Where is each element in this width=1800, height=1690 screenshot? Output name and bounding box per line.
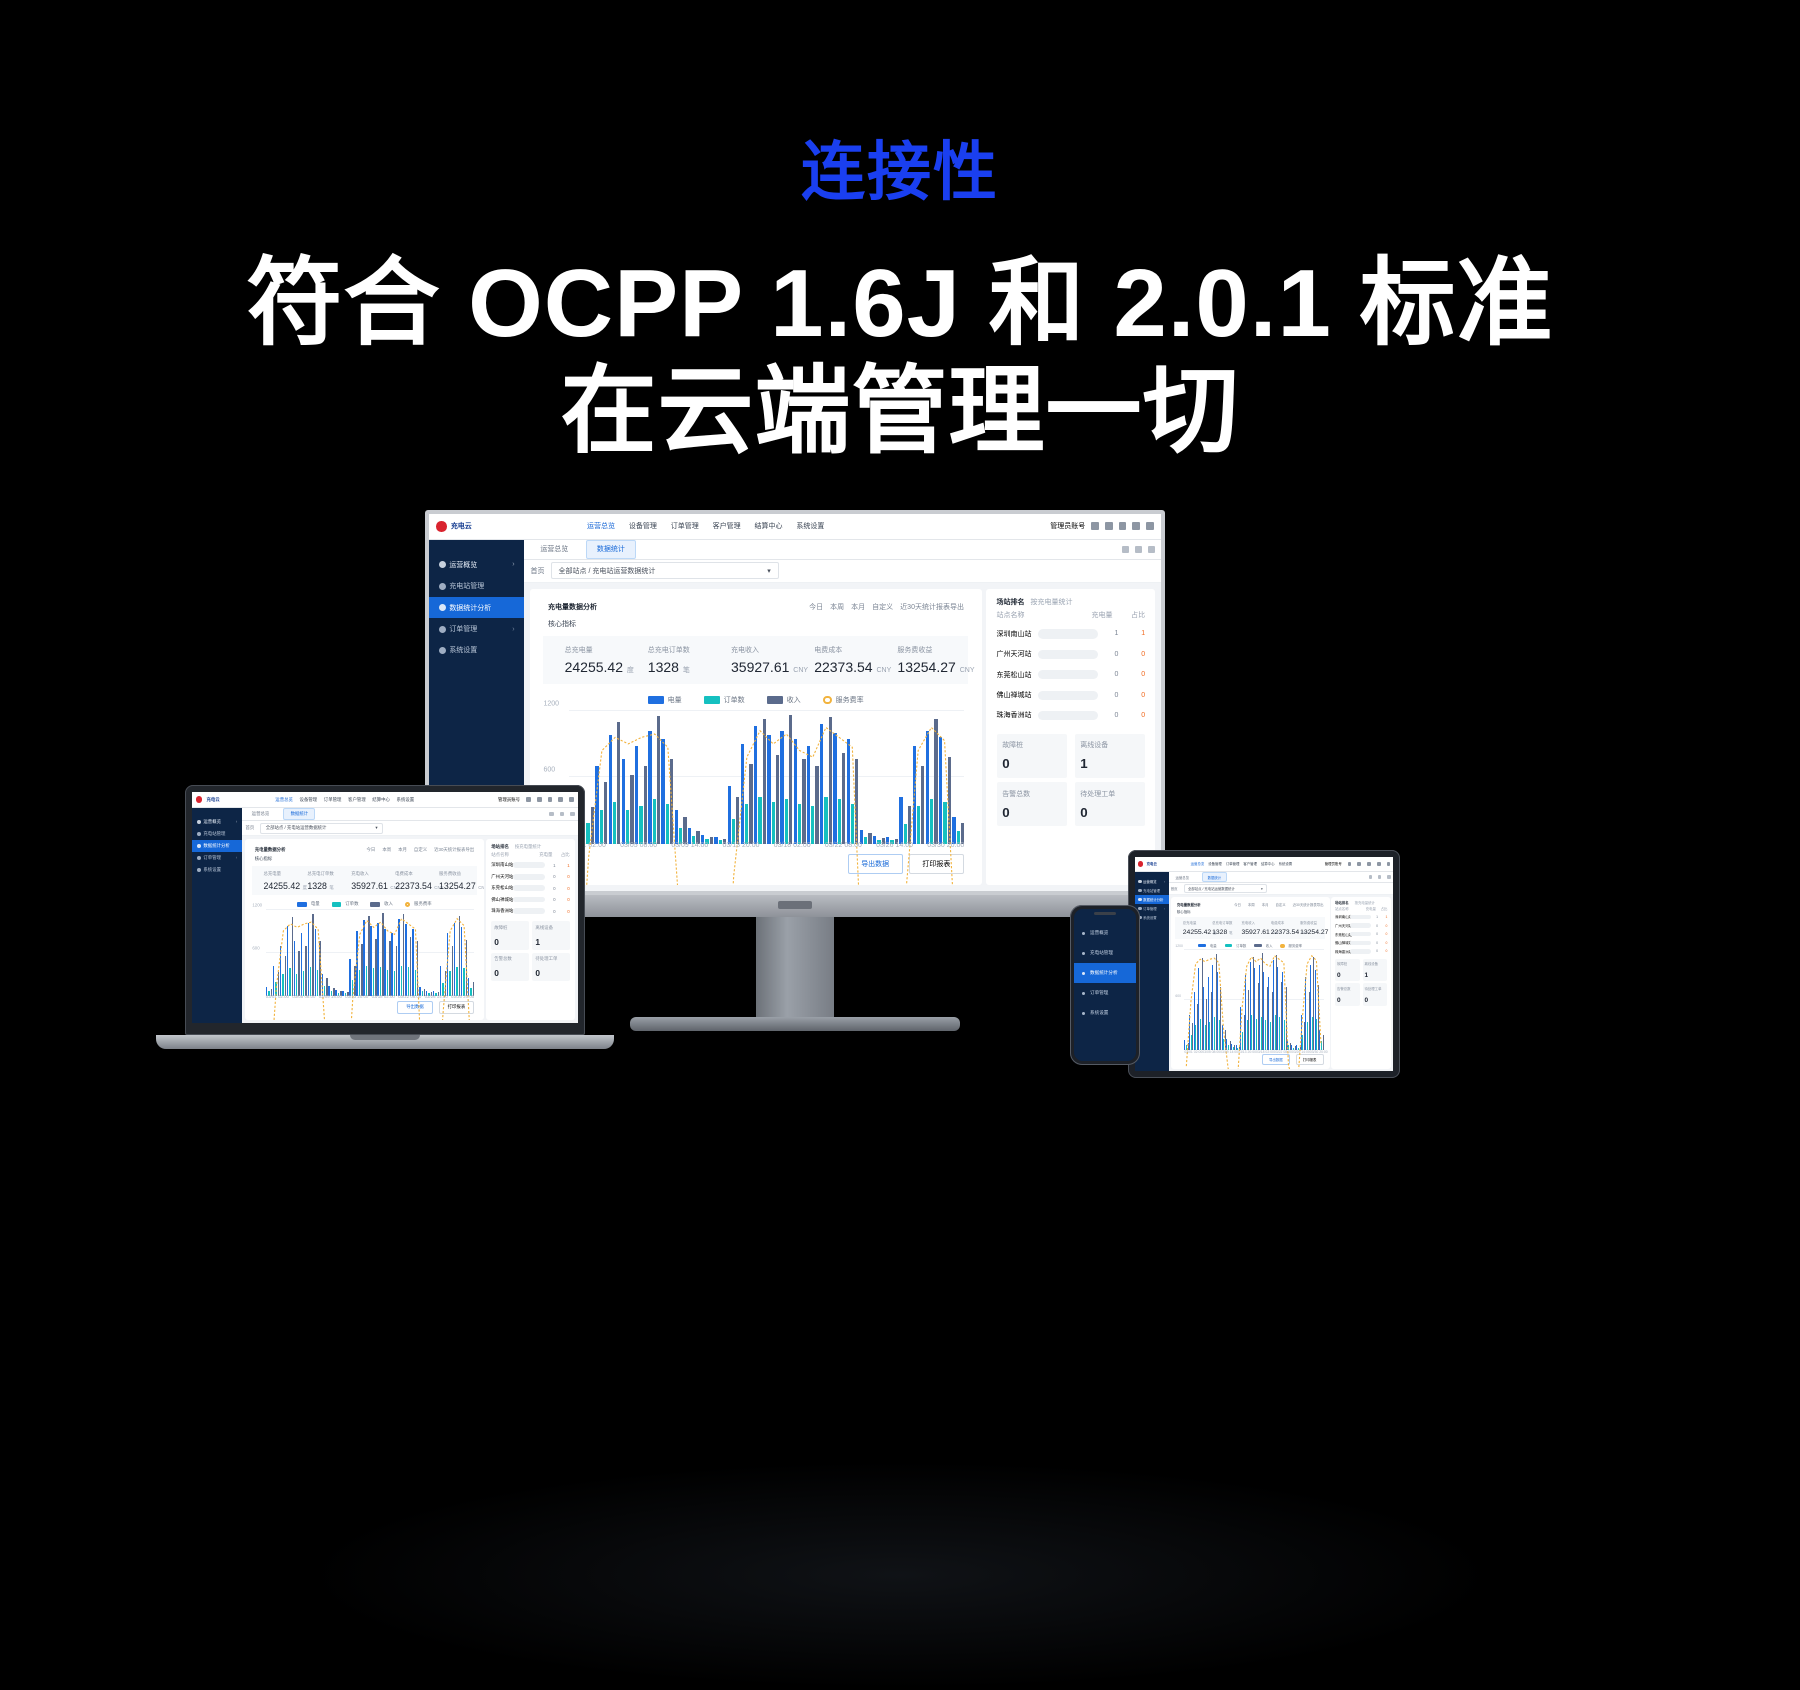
tab-0[interactable]: 运营总览 — [531, 541, 579, 558]
chart-filter-1[interactable]: 本周 — [830, 602, 844, 612]
sidebar-item-label: 系统设置 — [203, 867, 221, 873]
chart-card-header: 充电量数据分析今日本周本月自定义近30天统计报表导出 — [245, 839, 483, 856]
rank-row-value: 0 — [1104, 651, 1119, 658]
rank-row-value: 1 — [548, 863, 556, 868]
rank-row[interactable]: 广州天河站00 — [997, 644, 1146, 664]
language-icon[interactable] — [526, 797, 531, 802]
chart-filter-3[interactable]: 自定义 — [872, 602, 893, 612]
sidebar-item-label: 运营概览 — [203, 819, 221, 825]
brand: 充电云 — [196, 796, 275, 803]
expand-icon[interactable] — [1135, 546, 1142, 553]
rank-progress-track — [1038, 670, 1097, 679]
kpi-row: 总充电量24255.42 度总充电订单数1328 笔充电收入35927.61 C… — [252, 866, 476, 896]
mini-stat-card-3[interactable]: 待处理工单0 — [1075, 782, 1146, 826]
chart-filter-4[interactable]: 近30天统计报表导出 — [900, 602, 964, 612]
rank-row-share: 0 — [1380, 941, 1387, 945]
rank-row[interactable]: 东莞松山站00 — [1335, 930, 1387, 939]
kpi-label: 总充电订单数 — [648, 645, 715, 655]
mini-stat-label: 故障桩 — [1002, 740, 1061, 750]
order-icon — [1082, 992, 1085, 995]
rank-list: 深圳南山站11广州天河站00东莞松山站00佛山禅城站00珠海香洲站00 — [986, 624, 1155, 726]
legend-marker-ring — [823, 696, 831, 704]
rank-row[interactable]: 深圳南山站11 — [1335, 913, 1387, 922]
phone-menu-label: 充电站管理 — [1090, 950, 1113, 956]
close-icon[interactable] — [570, 812, 574, 816]
refresh-icon[interactable] — [549, 812, 553, 816]
legend-item-1[interactable]: 订单数 — [1225, 943, 1247, 948]
sidebar-item-0[interactable]: 运营概览› — [1135, 877, 1169, 886]
menu-icon[interactable] — [1387, 862, 1391, 866]
rank-row-name: 广州天河站 — [997, 649, 1033, 659]
legend-swatch — [332, 902, 342, 907]
legend-label: 收入 — [384, 901, 393, 907]
legend-item-3[interactable]: 服务费率 — [1280, 943, 1302, 948]
rank-row[interactable]: 东莞松山站00 — [997, 665, 1146, 685]
mini-stat-card-0[interactable]: 故障桩0 — [1335, 959, 1360, 981]
rank-row[interactable]: 珠海香洲站00 — [997, 705, 1146, 725]
mini-stat-grid: 故障桩0离线设备1告警总数0待处理工单0 — [486, 917, 575, 983]
mini-stat-card-3[interactable]: 待处理工单0 — [532, 953, 569, 982]
rank-progress-track — [513, 862, 544, 868]
avatar-icon[interactable] — [1132, 522, 1140, 530]
content-area: 运营总览数据统计首页全部站点 / 充电站运营数据统计▾充电量数据分析今日本周本月… — [1169, 872, 1393, 1071]
legend-item-3[interactable]: 服务费率 — [823, 695, 863, 705]
gear-icon — [197, 868, 201, 872]
rank-row[interactable]: 珠海香洲站00 — [1335, 947, 1387, 956]
x-tick-label: 03/18 02:00 — [372, 994, 395, 999]
kpi-label: 总充电量 — [263, 871, 298, 877]
kpi-label: 充电收入 — [1241, 920, 1264, 925]
rank-row-share: 0 — [1380, 932, 1387, 936]
y-tick-label: 1200 — [1175, 944, 1183, 948]
rank-col-2: 占比 — [1112, 610, 1145, 620]
tab-1[interactable]: 数据统计 — [1202, 872, 1227, 882]
logo-icon — [1138, 861, 1143, 866]
top-nav-item-0[interactable]: 运营总览 — [275, 797, 293, 803]
laptop-screen: 充电云运营总览设备管理订单管理客户管理结算中心系统设置管理员账号运营概览›充电站… — [192, 792, 578, 1023]
mini-stat-label: 离线设备 — [535, 925, 566, 931]
chart-filter-0[interactable]: 今日 — [809, 602, 823, 612]
eyebrow-text: 连接性 — [0, 140, 1800, 204]
chevron-down-icon[interactable]: › — [1164, 880, 1165, 884]
mini-stat-label: 待处理工单 — [1080, 789, 1139, 799]
chevron-down-icon[interactable]: › — [236, 855, 237, 860]
legend-swatch — [704, 696, 719, 704]
chevron-down-icon[interactable]: ▾ — [375, 825, 377, 831]
site-select-value: 全部站点 / 充电站运营数据统计 — [1188, 886, 1235, 891]
rank-progress-track — [1350, 915, 1371, 919]
rank-row-value: 1 — [1373, 915, 1378, 919]
top-nav-item-2[interactable]: 订单管理 — [1226, 861, 1240, 866]
legend-item-0[interactable]: 电量 — [1198, 943, 1216, 948]
avatar-icon[interactable] — [1377, 862, 1381, 866]
mini-stat-card-1[interactable]: 离线设备1 — [1075, 734, 1146, 778]
chart-plot: 600120003/01 02:0003/05 08:0003/09 14:00… — [543, 711, 968, 844]
top-nav-item-0[interactable]: 运营总览 — [587, 521, 615, 531]
legend-label: 收入 — [1266, 943, 1273, 948]
sidebar-item-0[interactable]: 运营概览› — [429, 554, 524, 575]
tab-1[interactable]: 数据统计 — [283, 808, 315, 820]
top-user-label[interactable]: 管理员账号 — [1050, 521, 1085, 531]
sidebar-item-1[interactable]: 充电站管理 — [429, 576, 524, 597]
chart-filter-2[interactable]: 本月 — [851, 602, 865, 612]
top-nav-item-1[interactable]: 设备管理 — [300, 797, 318, 803]
sidebar-item-label: 运营概览 — [449, 560, 477, 570]
y-tick-label: 600 — [543, 767, 555, 774]
kpi-value: 13254.27 — [897, 659, 955, 675]
breadcrumb-prefix: 首页 — [1171, 886, 1178, 891]
top-user-label[interactable]: 管理员账号 — [1325, 861, 1342, 866]
kpi-label: 充电收入 — [731, 645, 798, 655]
content-area: 运营总览数据统计首页全部站点 / 充电站运营数据统计▾充电量数据分析今日本周本月… — [524, 540, 1161, 892]
rank-row[interactable]: 广州天河站00 — [1335, 921, 1387, 930]
sidebar-item-4[interactable]: 系统设置 — [429, 640, 524, 661]
phone-menu-item-1[interactable]: 充电站管理 — [1074, 943, 1136, 963]
expand-icon[interactable] — [1378, 875, 1381, 878]
menu-icon[interactable] — [569, 797, 574, 802]
x-tick-label: 03/05 08:00 — [292, 994, 315, 999]
grid-icon — [1082, 932, 1085, 935]
avatar-icon[interactable] — [558, 797, 563, 802]
kpi-value-wrap: 13254.27 CNY — [1300, 929, 1323, 936]
monitor-stand-base — [630, 1017, 960, 1031]
chart-filter-0[interactable]: 今日 — [367, 847, 376, 853]
rank-card: 场站排名按充电量统计站点名称充电量占比深圳南山站11广州天河站00东莞松山站00… — [486, 839, 575, 1020]
kpi-card-3: 电费成本22373.54 CNY — [798, 645, 881, 675]
chart-card: 充电量数据分析今日本周本月自定义近30天统计报表导出核心指标总充电量24255.… — [530, 589, 982, 886]
kpi-label: 服务费收益 — [1300, 920, 1323, 925]
sidebar-item-4[interactable]: 系统设置 — [1135, 913, 1169, 922]
kpi-value-wrap: 22373.54 CNY — [1271, 929, 1294, 936]
kpi-card-4: 服务费收益13254.27 CNY — [430, 871, 474, 891]
kpi-value: 13254.27 — [1300, 929, 1328, 936]
rank-col-1: 充电量 — [1035, 610, 1112, 620]
legend-item-0[interactable]: 电量 — [648, 695, 681, 705]
dashboard-app-tablet: 充电云运营总览设备管理订单管理客户管理结算中心系统设置管理员账号运营概览›充电站… — [1135, 857, 1393, 1071]
mini-stat-label: 告警总数 — [1337, 986, 1358, 991]
app-top-bar: 充电云运营总览设备管理订单管理客户管理结算中心系统设置管理员账号 — [192, 792, 578, 808]
kpi-label: 服务费收益 — [897, 645, 964, 655]
kpi-card-1: 总充电订单数1328 笔 — [1206, 920, 1235, 936]
bell-icon[interactable] — [1119, 522, 1127, 530]
rank-row-name: 珠海香洲站 — [997, 710, 1033, 720]
brand-name: 充电云 — [206, 797, 219, 803]
sidebar-item-label: 运营概览 — [1143, 879, 1157, 884]
brand-name: 充电云 — [1147, 861, 1157, 866]
top-right-tools: 管理员账号 — [1325, 861, 1391, 866]
mini-stat-card-3[interactable]: 待处理工单0 — [1363, 983, 1388, 1005]
rank-list: 深圳南山站11广州天河站00东莞松山站00佛山禅城站00珠海香洲站00 — [486, 859, 575, 916]
top-nav-item-5[interactable]: 系统设置 — [796, 521, 824, 531]
chart-filter-2[interactable]: 本月 — [1262, 902, 1269, 907]
monitor-logo — [778, 901, 812, 909]
kpi-value-wrap: 13254.27 CNY — [897, 659, 964, 675]
rank-col-0: 站点名称 — [491, 852, 511, 858]
rank-row-share: 0 — [1124, 692, 1145, 699]
chevron-down-icon[interactable]: › — [512, 626, 514, 633]
phone-menu-label: 数据统计分析 — [1090, 970, 1118, 976]
kpi-label: 电费成本 — [395, 871, 430, 877]
rank-row[interactable]: 东莞松山站00 — [491, 882, 569, 893]
rank-row[interactable]: 深圳南山站11 — [997, 624, 1146, 644]
phone-speaker — [1094, 912, 1116, 915]
sidebar-item-2[interactable]: 数据统计分析 — [192, 840, 242, 852]
close-icon[interactable] — [1387, 875, 1390, 878]
top-nav: 运营总览设备管理订单管理客户管理结算中心系统设置 — [1191, 861, 1325, 866]
kpi-value-wrap: 35927.61 CNY — [1241, 929, 1264, 936]
legend-item-1[interactable]: 订单数 — [332, 901, 359, 907]
language-icon[interactable] — [1091, 522, 1099, 530]
chart-filter-2[interactable]: 本月 — [398, 847, 407, 853]
station-icon — [439, 583, 446, 590]
refresh-icon[interactable] — [1122, 546, 1129, 553]
chart-filter-4[interactable]: 近30天统计报表导出 — [434, 847, 474, 853]
rank-row-name: 东莞松山站 — [491, 885, 510, 891]
tablet-screen: 充电云运营总览设备管理订单管理客户管理结算中心系统设置管理员账号运营概览›充电站… — [1135, 857, 1393, 1071]
x-tick-label: 03/18 02:00 — [1256, 1050, 1274, 1054]
chevron-down-icon[interactable]: ▾ — [767, 567, 771, 575]
kpi-label: 总充电量 — [1183, 920, 1206, 925]
mini-stat-value: 0 — [1337, 972, 1358, 979]
sidebar-item-2[interactable]: 数据统计分析 — [429, 597, 524, 618]
mini-stat-label: 告警总数 — [1002, 789, 1061, 799]
sidebar-item-1[interactable]: 充电站管理 — [192, 828, 242, 840]
top-user-label[interactable]: 管理员账号 — [498, 797, 520, 803]
laptop-notch — [350, 1035, 420, 1040]
mini-stat-value: 0 — [1002, 805, 1061, 820]
chevron-down-icon[interactable]: › — [1164, 907, 1165, 911]
chart-card: 充电量数据分析今日本周本月自定义近30天统计报表导出核心指标总充电量24255.… — [1171, 897, 1330, 1069]
rank-progress-track — [1350, 949, 1371, 953]
sidebar-item-0[interactable]: 运营概览› — [192, 816, 242, 828]
kpi-section-label: 核心指标 — [245, 856, 483, 862]
phone-menu-item-4[interactable]: 系统设置 — [1074, 1003, 1136, 1023]
x-tick-label: 03/18 02:00 — [774, 842, 811, 849]
top-right-tools: 管理员账号 — [1050, 521, 1153, 531]
chart-filter-1[interactable]: 本周 — [1248, 902, 1255, 907]
mini-stat-card-2[interactable]: 告警总数0 — [491, 953, 528, 982]
brand-name: 充电云 — [451, 521, 472, 531]
x-tick-label: 03/05 08:00 — [620, 842, 657, 849]
bell-icon[interactable] — [1367, 862, 1371, 866]
fullscreen-icon[interactable] — [537, 797, 542, 802]
rank-card: 场站排名按充电量统计站点名称充电量占比深圳南山站11广州天河站00东莞松山站00… — [986, 589, 1155, 886]
site-select[interactable]: 全部站点 / 充电站运营数据统计▾ — [551, 562, 779, 579]
expand-icon[interactable] — [560, 812, 564, 816]
site-select-value: 全部站点 / 充电站运营数据统计 — [559, 566, 656, 576]
chart-plot: 600120003/01 02:0003/05 08:0003/09 14:00… — [1175, 950, 1325, 1050]
tablet-device: 充电云运营总览设备管理订单管理客户管理结算中心系统设置管理员账号运营概览›充电站… — [1128, 850, 1400, 1078]
sidebar-item-3[interactable]: 订单管理› — [192, 852, 242, 864]
kpi-label: 总充电订单数 — [307, 871, 342, 877]
rank-row-name: 珠海香洲站 — [491, 908, 510, 914]
rank-row-value: 0 — [548, 897, 556, 902]
top-nav-item-3[interactable]: 客户管理 — [713, 521, 741, 531]
rank-row-value: 0 — [1373, 932, 1378, 936]
top-nav-item-4[interactable]: 结算中心 — [1261, 861, 1275, 866]
mini-stat-card-2[interactable]: 告警总数0 — [997, 782, 1068, 826]
sidebar-item-label: 数据统计分析 — [203, 843, 229, 849]
legend-item-3[interactable]: 服务费率 — [405, 901, 432, 907]
chart-filters: 今日本周本月自定义近30天统计报表导出 — [1234, 902, 1323, 907]
legend-item-2[interactable]: 收入 — [1254, 943, 1272, 948]
mini-stat-label: 待处理工单 — [1365, 986, 1386, 991]
mini-stat-value: 0 — [535, 968, 566, 978]
breadcrumb-prefix: 首页 — [531, 566, 545, 576]
kpi-section-label: 核心指标 — [1171, 909, 1330, 914]
sidebar-item-label: 系统设置 — [1143, 915, 1157, 920]
x-tick-label: 03/30 20:00 — [451, 994, 474, 999]
rank-row-value: 1 — [1104, 630, 1119, 637]
sidebar-item-2[interactable]: 数据统计分析 — [1135, 895, 1169, 904]
menu-icon[interactable] — [1146, 522, 1154, 530]
x-tick-label: 03/26 14:00 — [876, 842, 913, 849]
kpi-unit: 笔 — [329, 885, 333, 890]
rank-row[interactable]: 广州天河站00 — [491, 871, 569, 882]
rank-row-name: 东莞松山站 — [997, 670, 1033, 680]
site-select[interactable]: 全部站点 / 充电站运营数据统计▾ — [1184, 884, 1268, 893]
phone-sidebar-menu: 运营概览充电站管理数据统计分析订单管理系统设置 — [1074, 909, 1136, 1061]
legend-label: 订单数 — [1236, 943, 1246, 948]
legend-item-2[interactable]: 收入 — [370, 901, 392, 907]
tab-1[interactable]: 数据统计 — [586, 540, 636, 559]
chart-filter-0[interactable]: 今日 — [1234, 902, 1241, 907]
mini-stat-card-1[interactable]: 离线设备1 — [1363, 959, 1388, 981]
mini-stat-label: 离线设备 — [1365, 961, 1386, 966]
kpi-card-2: 充电收入35927.61 CNY — [1236, 920, 1265, 936]
x-tick-label: 03/09 14:00 — [319, 994, 342, 999]
rank-row-name: 珠海香洲站 — [1335, 949, 1348, 954]
x-axis: 03/01 02:0003/05 08:0003/09 14:0003/13 2… — [569, 842, 964, 849]
mini-stat-card-0[interactable]: 故障桩0 — [997, 734, 1068, 778]
tab-0[interactable]: 运营总览 — [1171, 873, 1194, 881]
phone-menu-item-3[interactable]: 订单管理 — [1074, 983, 1136, 1003]
chart-filter-3[interactable]: 自定义 — [414, 847, 427, 853]
rank-row-name: 东莞松山站 — [1335, 932, 1348, 937]
chart-filter-1[interactable]: 本周 — [382, 847, 391, 853]
top-nav-item-3[interactable]: 客户管理 — [1243, 861, 1257, 866]
rank-row-value: 0 — [1373, 924, 1378, 928]
phone-menu-label: 订单管理 — [1090, 990, 1108, 996]
app-top-bar: 充电云运营总览设备管理订单管理客户管理结算中心系统设置管理员账号 — [1135, 857, 1393, 872]
chevron-down-icon[interactable]: › — [512, 561, 514, 568]
rank-row-name: 广州天河站 — [491, 874, 510, 880]
chart-filters: 今日本周本月自定义近30天统计报表导出 — [367, 847, 475, 853]
top-right-tools: 管理员账号 — [498, 797, 574, 803]
rank-row[interactable]: 珠海香洲站00 — [491, 905, 569, 916]
top-nav-item-5[interactable]: 系统设置 — [1279, 861, 1293, 866]
legend-swatch — [648, 696, 663, 704]
chevron-down-icon[interactable]: ▾ — [1261, 887, 1263, 891]
kpi-card-1: 总充电订单数1328 笔 — [299, 871, 343, 891]
kpi-value-wrap: 1328 笔 — [1212, 929, 1235, 936]
sidebar-item-4[interactable]: 系统设置 — [192, 864, 242, 876]
kpi-card-3: 电费成本22373.54 CNY — [386, 871, 430, 891]
legend-label: 电量 — [311, 901, 320, 907]
tab-0[interactable]: 运营总览 — [246, 809, 276, 819]
top-nav-item-1[interactable]: 设备管理 — [629, 521, 657, 531]
floor-glow — [300, 1460, 1500, 1690]
rank-row[interactable]: 佛山禅城站00 — [1335, 938, 1387, 947]
headline-line-1: 符合 OCPP 1.6J 和 2.0.1 标准 — [246, 250, 1553, 357]
service-rate-line — [266, 910, 475, 1020]
station-icon — [1138, 889, 1141, 892]
bell-icon[interactable] — [548, 797, 553, 802]
rank-row[interactable]: 佛山禅城站00 — [997, 685, 1146, 705]
rank-columns: 站点名称充电量占比 — [486, 852, 575, 860]
fullscreen-icon[interactable] — [1357, 862, 1361, 866]
site-select[interactable]: 全部站点 / 充电站运营数据统计▾ — [260, 823, 383, 834]
rank-title: 场站排名 — [997, 597, 1025, 607]
kpi-value: 24255.42 — [565, 659, 623, 675]
phone-menu-item-0[interactable]: 运营概览 — [1074, 923, 1136, 943]
top-nav-item-4[interactable]: 结算中心 — [755, 521, 783, 531]
top-nav-item-4[interactable]: 结算中心 — [372, 797, 390, 803]
mini-stat-card-2[interactable]: 告警总数0 — [1335, 983, 1360, 1005]
kpi-row: 总充电量24255.42 度总充电订单数1328 笔充电收入35927.61 C… — [1175, 917, 1325, 939]
top-nav-item-2[interactable]: 订单管理 — [324, 797, 342, 803]
tab-bar: 运营总览数据统计 — [242, 808, 578, 821]
top-nav-item-2[interactable]: 订单管理 — [671, 521, 699, 531]
legend-item-1[interactable]: 订单数 — [704, 695, 744, 705]
rank-row-share: 0 — [559, 897, 570, 902]
rank-row[interactable]: 深圳南山站11 — [491, 859, 569, 870]
top-nav: 运营总览设备管理订单管理客户管理结算中心系统设置 — [275, 797, 498, 803]
sidebar-item-3[interactable]: 订单管理› — [429, 618, 524, 639]
sidebar-item-label: 订单管理 — [449, 624, 477, 634]
rank-row-name: 佛山禅城站 — [491, 897, 510, 903]
kpi-unit: CNY — [960, 667, 975, 674]
language-icon[interactable] — [1348, 862, 1352, 866]
sidebar-item-3[interactable]: 订单管理› — [1135, 904, 1169, 913]
breadcrumb: 首页全部站点 / 充电站运营数据统计▾ — [242, 821, 578, 836]
rank-subtitle: 按充电量统计 — [515, 844, 541, 850]
rank-row-share: 1 — [1380, 915, 1387, 919]
kpi-label: 服务费收益 — [439, 871, 474, 877]
fullscreen-icon[interactable] — [1105, 522, 1113, 530]
app-body: 运营概览›充电站管理数据统计分析订单管理›系统设置运营总览数据统计首页全部站点 … — [1135, 872, 1393, 1071]
close-icon[interactable] — [1148, 546, 1155, 553]
refresh-icon[interactable] — [1369, 875, 1372, 878]
kpi-value: 35927.61 — [731, 659, 789, 675]
top-nav-item-0[interactable]: 运营总览 — [1191, 861, 1205, 866]
sidebar-item-1[interactable]: 充电站管理 — [1135, 886, 1169, 895]
top-nav-item-1[interactable]: 设备管理 — [1208, 861, 1222, 866]
app-top-bar: 充电云运营总览设备管理订单管理客户管理结算中心系统设置管理员账号 — [429, 514, 1161, 540]
kpi-card-0: 总充电量24255.42 度 — [1177, 920, 1206, 936]
legend-item-2[interactable]: 收入 — [767, 695, 800, 705]
mini-stat-label: 故障桩 — [1337, 961, 1358, 966]
mini-stat-card-0[interactable]: 故障桩0 — [491, 921, 528, 950]
top-nav-item-3[interactable]: 客户管理 — [348, 797, 366, 803]
chart-filter-4[interactable]: 近30天统计报表导出 — [1293, 902, 1324, 907]
rank-row-value: 0 — [548, 886, 556, 891]
chart-legend: 电量订单数收入服务费率 — [530, 695, 982, 705]
phone-menu-item-2[interactable]: 数据统计分析 — [1074, 963, 1136, 983]
chevron-down-icon[interactable]: › — [236, 819, 237, 824]
headline-line-2: 在云端管理一切 — [0, 358, 1800, 466]
top-nav-item-5[interactable]: 系统设置 — [397, 797, 415, 803]
rank-row[interactable]: 佛山禅城站00 — [491, 894, 569, 905]
x-axis: 03/01 02:0003/05 08:0003/09 14:0003/13 2… — [1184, 1050, 1323, 1054]
chart-filter-3[interactable]: 自定义 — [1275, 902, 1285, 907]
mini-stat-card-1[interactable]: 离线设备1 — [532, 921, 569, 950]
kpi-value-wrap: 24255.42 度 — [1183, 929, 1206, 936]
rank-row-share: 0 — [559, 886, 570, 891]
panes: 充电量数据分析今日本周本月自定义近30天统计报表导出核心指标总充电量24255.… — [1169, 895, 1393, 1071]
legend-item-0[interactable]: 电量 — [297, 901, 319, 907]
mini-stat-label: 告警总数 — [494, 956, 525, 962]
